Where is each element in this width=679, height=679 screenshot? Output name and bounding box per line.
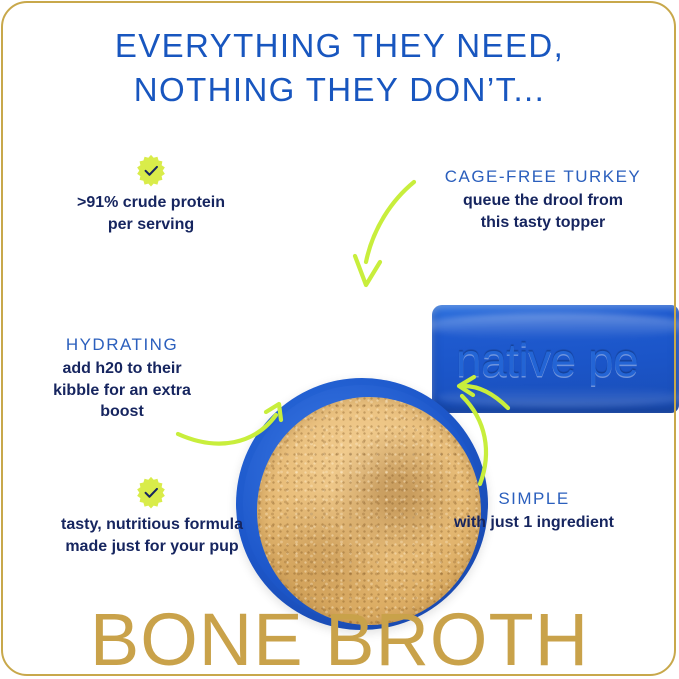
callout-protein: >91% crude protein per serving: [36, 192, 266, 235]
callout-simple: SIMPLE with just 1 ingredient: [422, 488, 646, 534]
callout-tasty: tasty, nutritious formula made just for …: [36, 514, 268, 557]
page-title: EVERYTHING THEY NEED, NOTHING THEY DON’T…: [0, 24, 679, 111]
callout-protein-body: >91% crude protein per serving: [36, 192, 266, 235]
callout-simple-kicker: SIMPLE: [422, 488, 646, 509]
product-wordmark: BONE BROTH: [0, 603, 679, 677]
callout-turkey: CAGE-FREE TURKEY queue the drool from th…: [424, 166, 662, 233]
callout-hydrating: HYDRATING add h20 to their kibble for an…: [22, 334, 222, 423]
callout-hydrating-body: add h20 to their kibble for an extra boo…: [22, 358, 222, 423]
brand-embossed-text: native pe: [456, 333, 638, 387]
callout-turkey-body: queue the drool from this tasty topper: [424, 190, 662, 233]
product-infographic-card: EVERYTHING THEY NEED, NOTHING THEY DON’T…: [0, 0, 679, 679]
callout-tasty-body: tasty, nutritious formula made just for …: [36, 514, 268, 557]
callout-turkey-kicker: CAGE-FREE TURKEY: [424, 166, 662, 187]
check-badge-icon: [134, 476, 168, 510]
callout-simple-body: with just 1 ingredient: [422, 512, 646, 534]
callout-hydrating-kicker: HYDRATING: [22, 334, 222, 355]
check-badge-icon: [134, 154, 168, 188]
